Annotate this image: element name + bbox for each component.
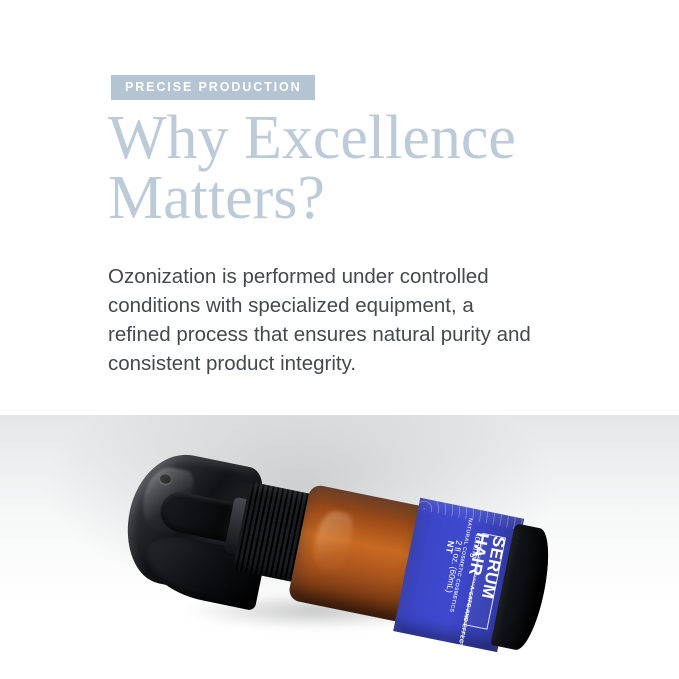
headline-line-1: Why Excellence [108,108,628,168]
headline-line-2: Matters? [108,168,628,228]
sprayer-nozzle-hole [159,474,172,485]
page-title: Why Excellence Matters? [108,108,628,228]
body-paragraph: Ozonization is performed under controlle… [108,262,538,378]
eyebrow-badge: PRECISE PRODUCTION [111,75,315,100]
product-marketing-page: PRECISE PRODUCTION Why Excellence Matter… [0,0,679,679]
product-image-hair-serum-bottle: O3 NT NATURAL COSMETIC COSMETICS toning … [114,432,538,669]
